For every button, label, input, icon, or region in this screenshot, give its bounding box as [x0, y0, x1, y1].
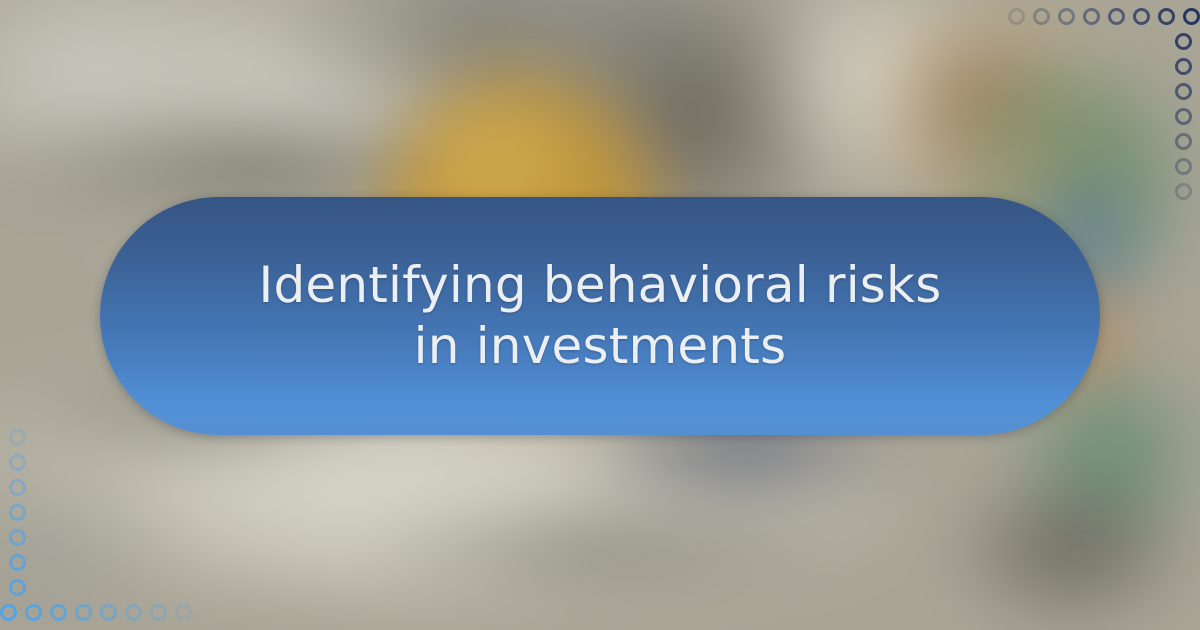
decorative-dot: [1158, 8, 1175, 25]
decorative-dot: [25, 604, 42, 621]
decorative-dot: [9, 479, 26, 496]
decorative-dot: [9, 529, 26, 546]
decorative-dot: [1108, 8, 1125, 25]
slide-canvas: Identifying behavioral risks in investme…: [0, 0, 1200, 630]
decorative-dot: [1175, 33, 1192, 50]
decorative-dot: [50, 604, 67, 621]
decorative-dot: [1133, 8, 1150, 25]
decorative-dot: [1175, 183, 1192, 200]
decorative-dot: [1175, 158, 1192, 175]
decorative-dot: [125, 604, 142, 621]
decorative-dot: [1058, 8, 1075, 25]
decorative-dot: [1008, 8, 1025, 25]
decorative-dot: [0, 604, 17, 621]
title-card: Identifying behavioral risks in investme…: [100, 197, 1100, 435]
decorative-dot: [1175, 108, 1192, 125]
decorative-dot: [100, 604, 117, 621]
decorative-dot: [1175, 83, 1192, 100]
decorative-dot: [9, 429, 26, 446]
decorative-dot: [150, 604, 167, 621]
decorative-dot: [9, 454, 26, 471]
decorative-dot: [9, 554, 26, 571]
decorative-dot: [75, 604, 92, 621]
decorative-dot: [175, 604, 192, 621]
decorative-dot: [1033, 8, 1050, 25]
decorative-dot: [1183, 8, 1200, 25]
page-title: Identifying behavioral risks in investme…: [169, 255, 1032, 377]
decorative-dot: [1083, 8, 1100, 25]
decorative-dots-bottom-left: [0, 420, 220, 630]
decorative-dots-top-right: [980, 0, 1200, 210]
decorative-dot: [9, 579, 26, 596]
decorative-dot: [9, 504, 26, 521]
decorative-dot: [1175, 133, 1192, 150]
decorative-dot: [1175, 58, 1192, 75]
